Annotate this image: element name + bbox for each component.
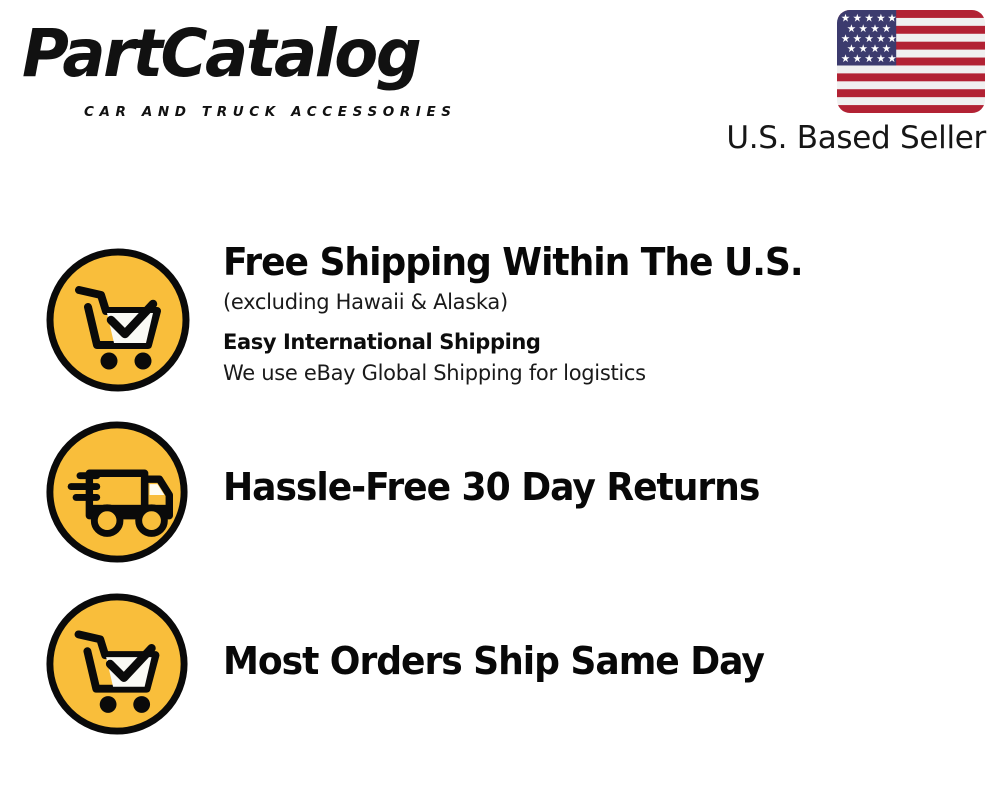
- feature-subtext: (excluding Hawaii & Alaska): [223, 287, 963, 317]
- brand-tagline: CAR AND TRUCK ACCESSORIES: [84, 104, 457, 120]
- delivery-truck-icon: [43, 418, 191, 566]
- shopping-cart-check-icon: [43, 590, 191, 738]
- feature-heading: Most Orders Ship Same Day: [223, 638, 926, 684]
- brand-logo: PartCatalog CAR AND TRUCK ACCESSORIES: [22, 18, 492, 118]
- feature-subtext-secondary: We use eBay Global Shipping for logistic…: [223, 358, 963, 388]
- feature-row: Hassle-Free 30 Day Returns: [40, 416, 980, 572]
- shopping-cart-check-icon: [43, 245, 193, 395]
- feature-text-block: Free Shipping Within The U.S. (excluding…: [223, 239, 963, 388]
- us-based-seller-label: U.S. Based Seller: [726, 120, 986, 156]
- feature-text-block: Most Orders Ship Same Day: [223, 638, 963, 684]
- brand-wordmark: PartCatalog: [22, 18, 419, 90]
- feature-heading: Hassle-Free 30 Day Returns: [223, 464, 926, 510]
- us-flag-icon: [837, 10, 985, 113]
- feature-subtext-strong: Easy International Shipping: [223, 327, 963, 357]
- feature-heading: Free Shipping Within The U.S.: [223, 239, 926, 285]
- feature-row: Most Orders Ship Same Day: [40, 588, 980, 744]
- feature-text-block: Hassle-Free 30 Day Returns: [223, 464, 963, 510]
- feature-row: Free Shipping Within The U.S. (excluding…: [40, 243, 980, 403]
